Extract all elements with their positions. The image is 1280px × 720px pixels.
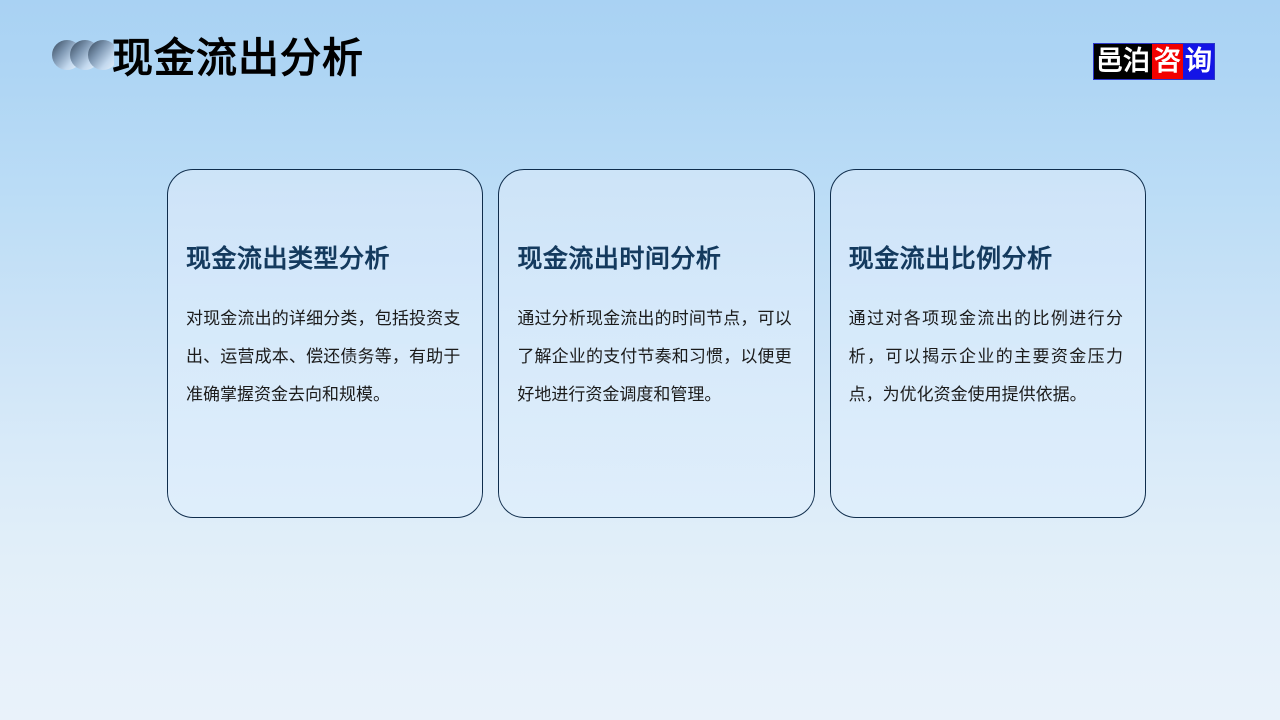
card-cash-outflow-type[interactable]: 现金流出类型分析 对现金流出的详细分类，包括投资支出、运营成本、偿还债务等，有助… (167, 169, 483, 518)
slide-header: 现金流出分析 邑泊 咨 询 (0, 0, 1280, 110)
card-cash-outflow-timing[interactable]: 现金流出时间分析 通过分析现金流出的时间节点，可以了解企业的支付节奏和习惯，以便… (498, 169, 814, 518)
brand-logo[interactable]: 邑泊 咨 询 (1093, 43, 1215, 80)
card-cash-outflow-proportion[interactable]: 现金流出比例分析 通过对各项现金流出的比例进行分析，可以揭示企业的主要资金压力点… (830, 169, 1146, 518)
brand-logo-segment-1: 邑泊 (1094, 44, 1152, 79)
card-group: 现金流出类型分析 对现金流出的详细分类，包括投资支出、运营成本、偿还债务等，有助… (167, 169, 1146, 518)
card-title: 现金流出类型分析 (186, 244, 460, 274)
card-body: 对现金流出的详细分类，包括投资支出、运营成本、偿还债务等，有助于准确掌握资金去向… (186, 300, 460, 414)
brand-logo-segment-2: 咨 (1152, 44, 1183, 79)
card-body: 通过分析现金流出的时间节点，可以了解企业的支付节奏和习惯，以便更好地进行资金调度… (517, 300, 791, 414)
card-title: 现金流出比例分析 (849, 244, 1123, 274)
slide-canvas: 现金流出分析 邑泊 咨 询 现金流出类型分析 对现金流出的详细分类，包括投资支出… (0, 0, 1280, 720)
page-title: 现金流出分析 (112, 34, 364, 82)
card-body: 通过对各项现金流出的比例进行分析，可以揭示企业的主要资金压力点，为优化资金使用提… (849, 300, 1123, 414)
three-crescent-bullets-icon (52, 37, 114, 73)
card-title: 现金流出时间分析 (517, 244, 791, 274)
brand-logo-segment-3: 询 (1183, 44, 1214, 79)
